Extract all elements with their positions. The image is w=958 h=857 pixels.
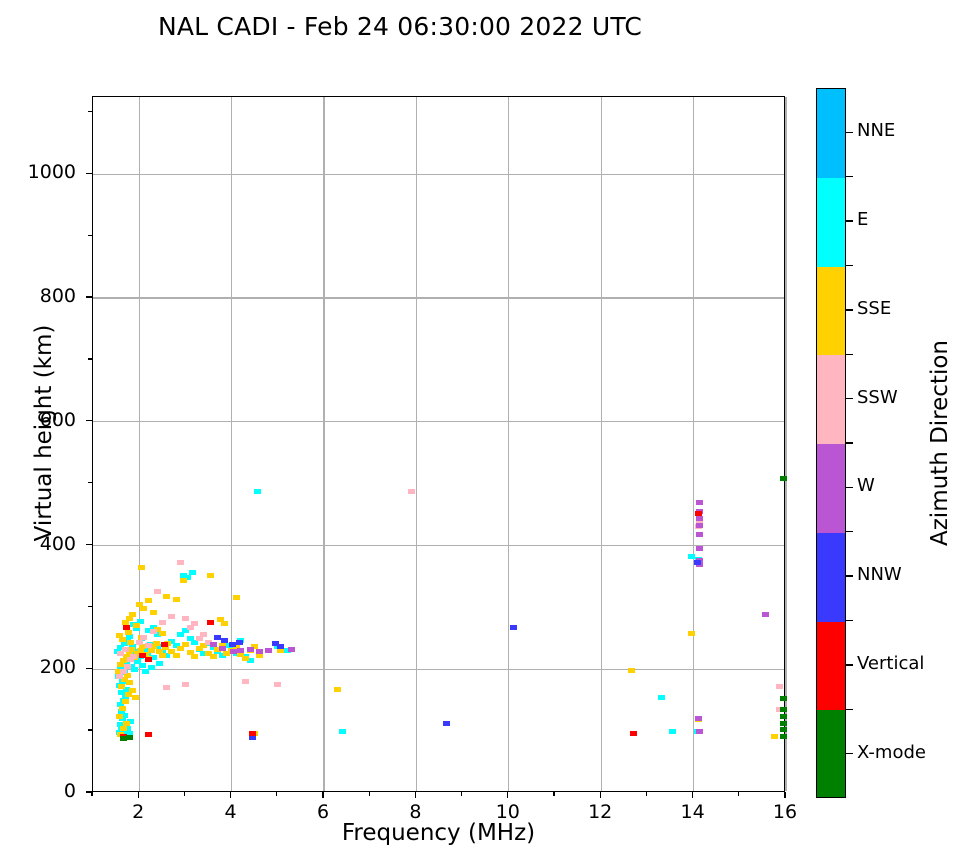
data-point-x-mode: [780, 727, 787, 732]
y-tick-minor: [88, 358, 92, 359]
data-point-ssw: [154, 589, 161, 594]
x-tick-minor: [646, 792, 647, 796]
data-point-e: [254, 489, 261, 494]
data-point-w: [696, 729, 703, 734]
data-point-sse: [120, 726, 127, 731]
gridline-horizontal: [93, 297, 784, 298]
data-point-sse: [145, 598, 152, 603]
data-point-w: [762, 612, 769, 617]
data-point-ssw: [177, 560, 184, 565]
gridline-vertical: [508, 97, 509, 791]
data-point-sse: [173, 653, 180, 658]
data-point-e: [142, 669, 149, 674]
x-tick-minor: [184, 792, 185, 796]
data-point-ssw: [242, 679, 249, 684]
colorbar-tick: [846, 753, 853, 754]
colorbar-segment-vertical[interactable]: [817, 622, 845, 711]
data-point-ssw: [124, 664, 131, 669]
colorbar-tick: [846, 664, 853, 665]
data-point-sse: [163, 594, 170, 599]
data-point-x-mode: [780, 714, 787, 719]
data-point-vertical: [123, 625, 130, 630]
data-point-x-mode: [126, 735, 133, 740]
y-tick: [86, 544, 92, 545]
data-point-sse: [207, 573, 214, 578]
data-point-ssw: [163, 685, 170, 690]
data-point-vertical: [630, 731, 637, 736]
data-point-sse: [628, 668, 635, 673]
data-point-w: [219, 646, 226, 651]
colorbar-segment-e[interactable]: [817, 178, 845, 267]
colorbar-tick-label-ssw: SSW: [857, 387, 898, 408]
y-tick: [86, 173, 92, 174]
colorbar-segment-nne[interactable]: [817, 89, 845, 178]
data-point-sse: [334, 687, 341, 692]
data-point-sse: [173, 597, 180, 602]
x-tick: [784, 792, 785, 798]
data-point-vertical: [145, 657, 152, 662]
data-point-sse: [210, 654, 217, 659]
azimuth-colorbar[interactable]: [816, 88, 846, 798]
x-tick: [322, 792, 323, 798]
y-tick-label: 1000: [6, 161, 76, 183]
data-point-ssw: [159, 620, 166, 625]
y-tick: [86, 668, 92, 669]
data-point-e: [156, 661, 163, 666]
data-point-sse: [125, 630, 132, 635]
plot-area: [92, 96, 785, 792]
y-tick-minor: [88, 729, 92, 730]
y-tick-minor: [88, 482, 92, 483]
data-point-w: [265, 648, 272, 653]
ionogram-plot-page: NAL CADI - Feb 24 06:30:00 2022 UTC 2468…: [0, 0, 958, 857]
colorbar-tick: [846, 575, 853, 576]
colorbar-tick-label-e: E: [857, 209, 868, 230]
colorbar-boundary-tick: [846, 442, 853, 443]
data-point-w: [696, 516, 703, 521]
gridline-vertical: [785, 97, 786, 791]
y-tick: [86, 791, 92, 792]
data-point-e: [126, 634, 133, 639]
data-point-ssw: [168, 614, 175, 619]
data-point-ssw: [150, 629, 157, 634]
data-point-sse: [126, 680, 133, 685]
data-point-vertical: [695, 511, 702, 516]
data-point-sse: [138, 565, 145, 570]
colorbar-segment-ssw[interactable]: [817, 355, 845, 444]
data-point-sse: [233, 595, 240, 600]
data-point-w: [256, 649, 263, 654]
data-point-sse: [119, 637, 126, 642]
data-point-vertical: [161, 642, 168, 647]
data-point-sse: [129, 612, 136, 617]
data-point-ssw: [191, 621, 198, 626]
x-tick: [507, 792, 508, 798]
data-point-ssw: [145, 643, 152, 648]
colorbar-tick: [846, 398, 853, 399]
y-axis-label: Virtual height (km): [31, 193, 57, 673]
x-tick-minor: [553, 792, 554, 796]
data-point-nnw: [694, 560, 701, 565]
gridline-horizontal: [93, 174, 784, 175]
data-point-nnw: [221, 638, 228, 643]
data-point-vertical: [207, 620, 214, 625]
data-point-sse: [153, 641, 160, 646]
data-point-nnw: [229, 642, 236, 647]
y-tick-minor: [88, 235, 92, 236]
colorbar-segment-nnw[interactable]: [817, 533, 845, 622]
data-point-nnw: [236, 640, 243, 645]
data-point-ssw: [274, 682, 281, 687]
gridline-vertical: [323, 97, 324, 791]
x-tick: [415, 792, 416, 798]
data-point-e: [139, 663, 146, 668]
colorbar-boundary-tick: [846, 176, 853, 177]
x-tick-minor: [738, 792, 739, 796]
colorbar-tick: [846, 487, 853, 488]
data-point-w: [696, 532, 703, 537]
data-point-x-mode: [780, 721, 787, 726]
data-point-ssw: [116, 674, 123, 679]
colorbar-tick: [846, 309, 853, 310]
data-point-sse: [688, 631, 695, 636]
data-point-e: [189, 570, 196, 575]
data-point-sse: [221, 621, 228, 626]
y-tick: [86, 420, 92, 421]
x-tick: [600, 792, 601, 798]
data-point-sse: [133, 623, 140, 628]
data-point-sse: [132, 695, 139, 700]
gridline-vertical: [693, 97, 694, 791]
data-point-sse: [123, 721, 130, 726]
colorbar-segment-sse[interactable]: [817, 267, 845, 356]
data-point-ssw: [408, 489, 415, 494]
colorbar-boundary-tick: [846, 265, 853, 266]
data-point-sse: [119, 706, 126, 711]
gridline-horizontal: [93, 669, 784, 670]
x-tick: [230, 792, 231, 798]
data-point-sse: [180, 578, 187, 583]
x-tick-minor: [461, 792, 462, 796]
data-point-x-mode: [780, 707, 787, 712]
data-point-e: [688, 554, 695, 559]
data-point-sse: [771, 734, 778, 739]
colorbar-segment-w[interactable]: [817, 444, 845, 533]
data-point-sse: [242, 656, 249, 661]
data-point-w: [696, 500, 703, 505]
data-point-ssw: [136, 640, 143, 645]
data-point-w: [288, 647, 295, 652]
data-point-sse: [150, 610, 157, 615]
colorbar-boundary-tick: [846, 354, 853, 355]
x-tick-minor: [369, 792, 370, 796]
data-point-vertical: [145, 732, 152, 737]
y-tick-label: 0: [6, 780, 76, 802]
data-point-sse: [191, 654, 198, 659]
data-point-nnw: [277, 644, 284, 649]
colorbar-boundary-tick: [846, 620, 853, 621]
y-tick-minor: [88, 111, 92, 112]
colorbar-tick-label-vertical: Vertical: [857, 653, 924, 674]
x-axis-label: Frequency (MHz): [92, 820, 785, 846]
data-point-ssw: [200, 632, 207, 637]
data-point-w: [247, 647, 254, 652]
data-point-sse: [182, 642, 189, 647]
data-point-e: [669, 729, 676, 734]
data-point-nnw: [443, 721, 450, 726]
colorbar-tick-label-sse: SSE: [857, 298, 891, 319]
colorbar-tick-label-w: W: [857, 475, 875, 496]
gridline-vertical: [601, 97, 602, 791]
data-point-ssw: [182, 682, 189, 687]
data-point-sse: [129, 688, 136, 693]
data-point-ssw: [120, 669, 127, 674]
data-point-ssw: [130, 654, 137, 659]
data-point-e: [148, 665, 155, 670]
data-point-ssw: [122, 647, 129, 652]
data-point-sse: [122, 699, 129, 704]
data-point-sse: [159, 653, 166, 658]
colorbar-boundary-tick: [846, 531, 853, 532]
data-point-e: [658, 695, 665, 700]
gridline-horizontal: [93, 421, 784, 422]
colorbar-tick-label-nne: NNE: [857, 120, 895, 141]
data-point-w: [237, 648, 244, 653]
colorbar-tick: [846, 132, 853, 133]
colorbar-tick-label-x-mode: X-mode: [857, 742, 926, 763]
data-point-w: [210, 642, 217, 647]
data-point-w: [696, 523, 703, 528]
data-point-w: [695, 716, 702, 721]
data-point-sse: [140, 606, 147, 611]
data-point-ssw: [182, 616, 189, 621]
page-title: NAL CADI - Feb 24 06:30:00 2022 UTC: [0, 12, 800, 41]
data-point-sse: [118, 684, 125, 689]
data-point-sse: [159, 631, 166, 636]
colorbar-boundary-tick: [846, 709, 853, 710]
data-point-sse: [127, 640, 134, 645]
data-point-x-mode: [780, 696, 787, 701]
data-point-x-mode: [780, 476, 787, 481]
x-tick: [138, 792, 139, 798]
data-point-nnw: [510, 625, 517, 630]
data-point-vertical: [249, 731, 256, 736]
colorbar-tick-label-nnw: NNW: [857, 564, 902, 585]
gridline-vertical: [231, 97, 232, 791]
x-tick-minor: [276, 792, 277, 796]
data-point-e: [339, 729, 346, 734]
gridline-vertical: [139, 97, 140, 791]
colorbar-tick: [846, 220, 853, 221]
colorbar-segment-x-mode[interactable]: [817, 710, 845, 798]
colorbar-label: Azimuth Direction: [927, 203, 953, 683]
data-point-e: [177, 632, 184, 637]
data-point-sse: [116, 714, 123, 719]
data-point-ssw: [776, 684, 783, 689]
data-point-ssw: [140, 635, 147, 640]
gridline-horizontal: [93, 545, 784, 546]
gridline-vertical: [416, 97, 417, 791]
data-point-x-mode: [780, 734, 787, 739]
y-tick: [86, 296, 92, 297]
y-tick-minor: [88, 606, 92, 607]
data-point-w: [696, 546, 703, 551]
x-tick: [692, 792, 693, 798]
data-point-e: [131, 667, 138, 672]
